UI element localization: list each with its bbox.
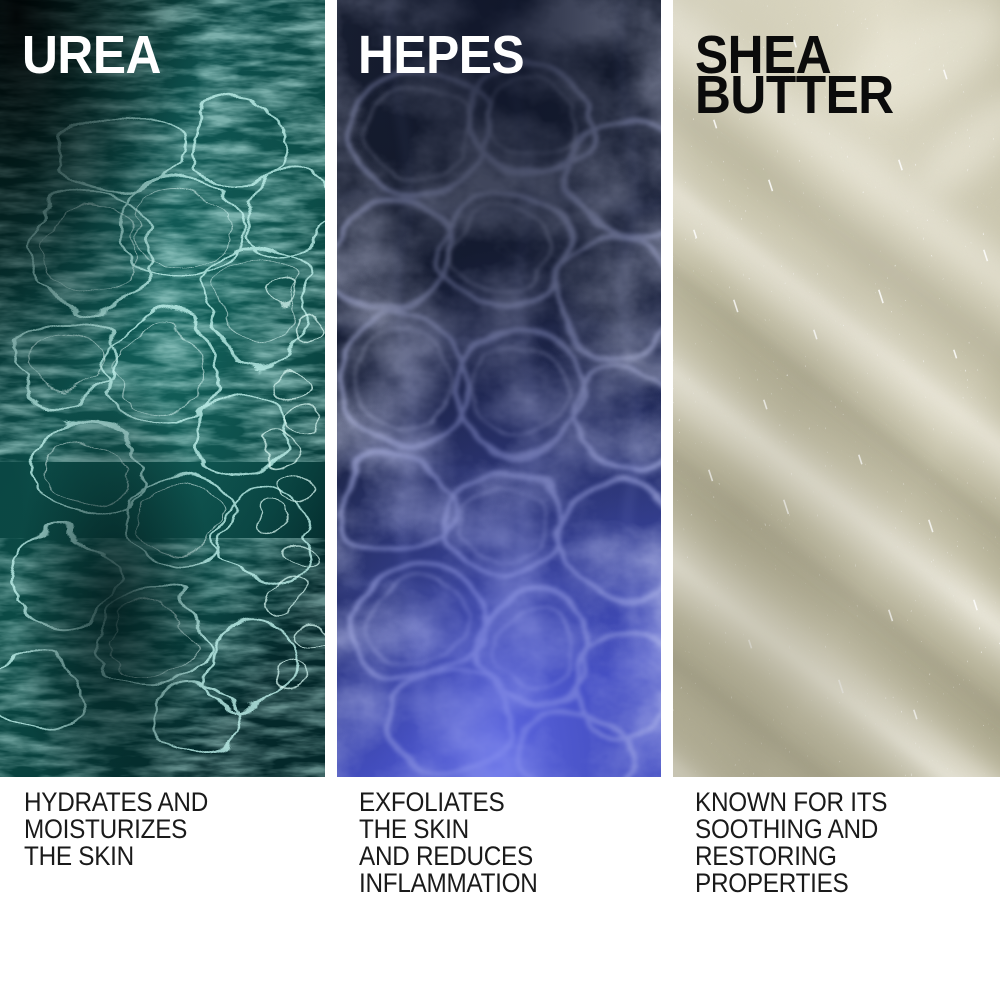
panel-urea-title: UREA (22, 36, 161, 76)
panel-hepes-caption: EXFOLIATES THE SKIN AND REDUCES INFLAMMA… (359, 789, 538, 897)
ingredient-poster: UREA HYDRATES AND MOISTURIZES THE SKIN (0, 0, 1000, 1000)
panel-shea-butter-caption: KNOWN FOR ITS SOOTHING AND RESTORING PRO… (695, 789, 887, 897)
panel-urea-image (0, 0, 325, 777)
panel-hepes-image (337, 0, 661, 777)
panel-urea-caption: HYDRATES AND MOISTURIZES THE SKIN (24, 789, 208, 870)
panel-shea-butter-title: SHEA BUTTER (695, 36, 894, 116)
panel-hepes-title: HEPES (358, 36, 524, 76)
